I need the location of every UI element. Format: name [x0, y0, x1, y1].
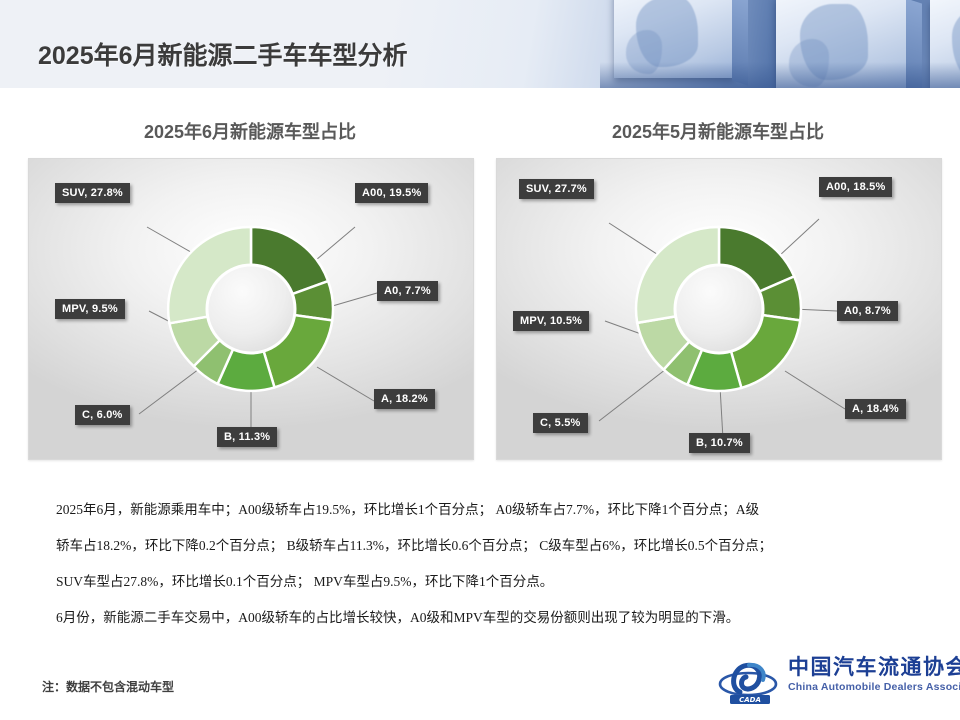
cada-logo-en: China Automobile Dealers Association — [788, 681, 960, 693]
analysis-line-4: 6月份，新能源二手车交易中，A00级轿车的占比增长较快，A0级和MPV车型的交易… — [56, 600, 904, 636]
charts-container: 2025年6月新能源车型占比 — [0, 88, 960, 488]
slice-label-a00: A00, 19.5% — [355, 183, 428, 203]
slice-label-mpv: MPV, 10.5% — [513, 311, 589, 331]
slice-label-a: A, 18.2% — [374, 389, 435, 409]
slice-label-b: B, 10.7% — [689, 433, 750, 453]
analysis-line-3: SUV车型占27.8%，环比增长0.1个百分点； MPV车型占9.5%，环比下降… — [56, 564, 904, 600]
cada-logo-cn: 中国汽车流通协会 — [788, 656, 960, 679]
cada-logo-texts: 中国汽车流通协会 China Automobile Dealers Associ… — [788, 656, 960, 693]
page-title: 2025年6月新能源二手车车型分析 — [38, 36, 408, 72]
cada-logo-mark: CADA — [718, 658, 782, 706]
analysis-line-1: 2025年6月，新能源乘用车中；A00级轿车占19.5%，环比增长1个百分点； … — [56, 492, 904, 528]
slice-label-b: B, 11.3% — [217, 427, 277, 447]
chart-title-june: 2025年6月新能源车型占比 — [28, 118, 472, 144]
analysis-text: 2025年6月，新能源乘用车中；A00级轿车占19.5%，环比增长1个百分点； … — [0, 492, 960, 636]
slice-label-a00: A00, 18.5% — [819, 177, 892, 197]
cada-logo: CADA 中国汽车流通协会 China Automobile Dealers A… — [718, 654, 940, 710]
slice-label-c: C, 5.5% — [533, 413, 588, 433]
chart-panel-may: SUV, 27.7% A00, 18.5% A0, 8.7% A, 18.4% … — [496, 158, 942, 460]
footnote: 注：数据不包含混动车型 — [42, 678, 174, 695]
slice-label-mpv: MPV, 9.5% — [55, 299, 125, 319]
chart-panel-june: SUV, 27.8% A00, 19.5% A0, 7.7% A, 18.2% … — [28, 158, 474, 460]
slice-label-suv: SUV, 27.7% — [519, 179, 594, 199]
slice-label-a0: A0, 7.7% — [377, 281, 438, 301]
chart-block-june: 2025年6月新能源车型占比 — [28, 88, 472, 460]
header-decorative-image — [600, 0, 960, 88]
slice-label-suv: SUV, 27.8% — [55, 183, 130, 203]
chart-block-may: 2025年5月新能源车型占比 — [496, 88, 940, 460]
slice-label-a0: A0, 8.7% — [837, 301, 898, 321]
chart-title-may: 2025年5月新能源车型占比 — [496, 118, 940, 144]
analysis-line-2: 轿车占18.2%，环比下降0.2个百分点； B级轿车占11.3%，环比增长0.6… — [56, 528, 904, 564]
slice-label-a: A, 18.4% — [845, 399, 906, 419]
slice-label-c: C, 6.0% — [75, 405, 130, 425]
cada-abbr-text: CADA — [739, 696, 761, 704]
header-floor-gradient — [600, 62, 960, 88]
page-header: 2025年6月新能源二手车车型分析 — [0, 0, 960, 88]
